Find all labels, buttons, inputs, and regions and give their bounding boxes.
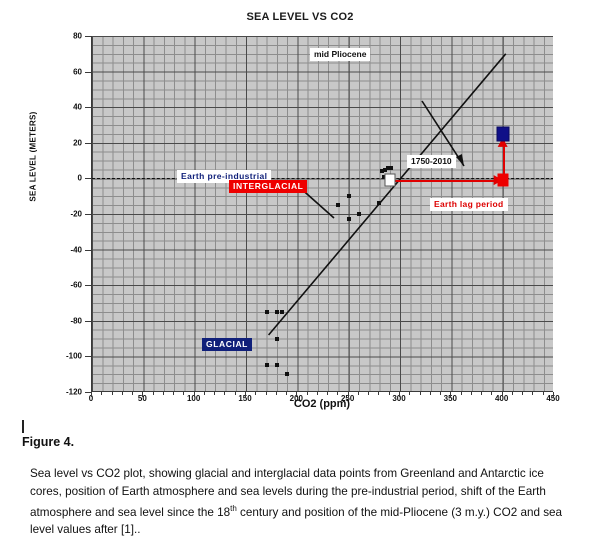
- x-minor-tick: [532, 392, 533, 395]
- x-tick-mark: [553, 392, 554, 397]
- x-tick-mark: [142, 392, 143, 397]
- x-minor-tick: [266, 392, 267, 395]
- x-minor-tick: [101, 392, 102, 395]
- lag-arrow-heads: [92, 36, 553, 392]
- y-tick-label: 20: [46, 138, 82, 147]
- x-minor-tick: [153, 392, 154, 395]
- x-minor-tick: [491, 392, 492, 395]
- x-tick-mark: [502, 392, 503, 397]
- x-tick-mark: [348, 392, 349, 397]
- x-tick-mark: [91, 392, 92, 397]
- y-tick-label: 40: [46, 103, 82, 112]
- x-minor-tick: [337, 392, 338, 395]
- x-minor-tick: [543, 392, 544, 395]
- x-minor-tick: [358, 392, 359, 395]
- x-minor-tick: [307, 392, 308, 395]
- earth-present-marker: [497, 174, 508, 187]
- x-minor-tick: [389, 392, 390, 395]
- x-minor-tick: [214, 392, 215, 395]
- x-minor-tick: [481, 392, 482, 395]
- earth-pre-industrial-marker: [384, 174, 395, 187]
- x-minor-tick: [183, 392, 184, 395]
- annotation-mid-pliocene: mid Pliocene: [310, 48, 370, 61]
- figure-4-chart: SEA LEVEL VS CO2 SEA LEVEL (METERS) CO2 …: [0, 0, 600, 412]
- x-minor-tick: [173, 392, 174, 395]
- figure-caption-block: Figure 4. Sea level vs CO2 plot, showing…: [0, 412, 600, 545]
- x-tick-mark: [194, 392, 195, 397]
- mid-pliocene-marker: [496, 126, 509, 141]
- y-tick-label: 0: [46, 174, 82, 183]
- x-minor-tick: [327, 392, 328, 395]
- x-minor-tick: [378, 392, 379, 395]
- y-tick-label: -60: [46, 281, 82, 290]
- x-minor-tick: [420, 392, 421, 395]
- x-minor-tick: [461, 392, 462, 395]
- x-minor-tick: [368, 392, 369, 395]
- x-minor-tick: [286, 392, 287, 395]
- y-tick-label: -80: [46, 316, 82, 325]
- annotation-glacial: GLACIAL: [202, 338, 252, 351]
- annotation-earth-lag-period: Earth lag period: [430, 198, 508, 211]
- y-tick-label: -100: [46, 352, 82, 361]
- x-minor-tick: [204, 392, 205, 395]
- figure-caption-text: Sea level vs CO2 plot, showing glacial a…: [30, 465, 578, 539]
- x-minor-tick: [163, 392, 164, 395]
- chart-title: SEA LEVEL VS CO2: [0, 11, 600, 23]
- annotation-period-range: 1750-2010: [407, 155, 456, 168]
- y-tick-label: -120: [46, 388, 82, 397]
- x-minor-tick: [112, 392, 113, 395]
- x-minor-tick: [276, 392, 277, 395]
- y-tick-label: 80: [46, 32, 82, 41]
- x-tick-mark: [296, 392, 297, 397]
- y-tick-label: -40: [46, 245, 82, 254]
- x-minor-tick: [440, 392, 441, 395]
- y-axis-label: SEA LEVEL (METERS): [29, 92, 38, 222]
- x-minor-tick: [132, 392, 133, 395]
- x-minor-tick: [512, 392, 513, 395]
- x-minor-tick: [409, 392, 410, 395]
- x-minor-tick: [224, 392, 225, 395]
- y-tick-label: -20: [46, 210, 82, 219]
- annotation-interglacial: INTERGLACIAL: [229, 180, 307, 193]
- x-minor-tick: [471, 392, 472, 395]
- x-minor-tick: [255, 392, 256, 395]
- x-tick-mark: [450, 392, 451, 397]
- x-minor-tick: [430, 392, 431, 395]
- y-tick-label: 60: [46, 67, 82, 76]
- x-minor-tick: [317, 392, 318, 395]
- x-tick-mark: [245, 392, 246, 397]
- caption-marker: [22, 420, 24, 433]
- x-minor-tick: [522, 392, 523, 395]
- x-minor-tick: [122, 392, 123, 395]
- plot-area: mid Pliocene Earth pre-industrial INTERG…: [91, 36, 553, 392]
- x-axis-label: CO2 (ppm): [91, 398, 553, 410]
- x-tick-mark: [399, 392, 400, 397]
- x-minor-tick: [235, 392, 236, 395]
- figure-number: Figure 4.: [22, 435, 74, 449]
- caption-superscript: th: [230, 504, 237, 513]
